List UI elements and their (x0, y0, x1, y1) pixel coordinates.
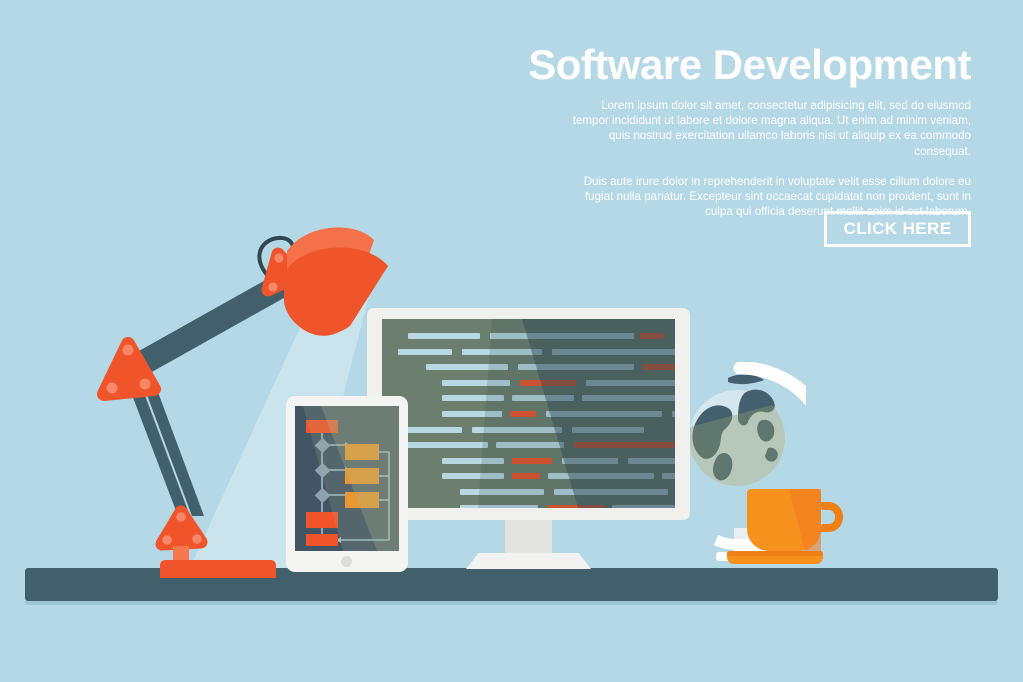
code-line-segment (406, 442, 488, 448)
code-line-segment (552, 349, 675, 355)
code-line-segment (574, 442, 675, 448)
illustration-canvas: Software Development Lorem ipsum dolor s… (0, 0, 1023, 682)
monitor-base (466, 553, 591, 569)
flowchart-box (306, 512, 338, 528)
code-line-segment (520, 380, 576, 386)
code-line-segment (672, 411, 675, 417)
cup-saucer-rim (727, 551, 823, 556)
cup-gloss (747, 489, 821, 551)
description-text: Lorem ipsum dolor sit amet, consectetur … (571, 98, 971, 219)
flowchart-diagram (295, 406, 399, 551)
code-line-segment (472, 427, 562, 433)
code-line-segment (408, 333, 480, 339)
flowchart-box (345, 444, 379, 460)
lamp-base (160, 560, 276, 578)
code-line-segment (460, 505, 538, 508)
lamp-base-assembly (148, 498, 288, 578)
code-line-segment (442, 411, 502, 417)
code-line-segment (548, 473, 654, 479)
code-line-segment (462, 349, 542, 355)
code-line-segment (554, 489, 668, 495)
code-line-segment (512, 473, 540, 479)
monitor-neck (505, 516, 552, 556)
code-editor-screen (382, 319, 675, 508)
code-line-segment (518, 364, 634, 370)
code-line-segment (512, 395, 574, 401)
code-line-segment (398, 349, 452, 355)
code-line-segment (496, 442, 564, 448)
flowchart-box (306, 534, 338, 546)
flowchart-box (345, 492, 379, 508)
code-line-segment (586, 380, 675, 386)
code-line-segment (662, 473, 675, 479)
code-line-segment (512, 458, 552, 464)
code-line-segment (582, 395, 675, 401)
flowchart-box (306, 420, 338, 433)
code-line-segment (640, 333, 664, 339)
page-title: Software Development (528, 44, 971, 86)
code-line-segment (442, 473, 504, 479)
paragraph-1: Lorem ipsum dolor sit amet, consectetur … (571, 98, 971, 159)
code-line-segment (490, 333, 634, 339)
code-line-segment (572, 427, 644, 433)
code-line-segment (628, 458, 675, 464)
code-line-segment (643, 364, 675, 370)
code-line-segment (548, 505, 604, 508)
cup-body (747, 489, 821, 551)
lamp-base-joint (162, 512, 202, 545)
code-line-segment (426, 364, 508, 370)
tablet-home-button[interactable] (341, 556, 352, 567)
code-line-segment (442, 380, 510, 386)
click-here-button[interactable]: CLICK HERE (824, 211, 971, 247)
code-line-segment (442, 395, 504, 401)
code-line-segment (562, 458, 618, 464)
code-line-segment (460, 489, 544, 495)
code-line-segment (406, 427, 462, 433)
code-line-segment (510, 411, 536, 417)
code-line-segment (442, 458, 504, 464)
flowchart-box (345, 468, 379, 484)
code-line-segment (612, 505, 675, 508)
code-line-segment (546, 411, 662, 417)
desk-shadow (25, 601, 998, 605)
